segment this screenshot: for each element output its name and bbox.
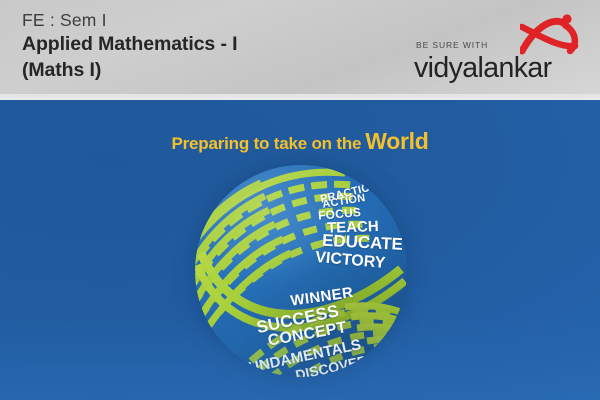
cover-tagline: Preparing to take on theWorld [0,128,600,155]
globe-wordcloud-graphic: COACH PRACTICE ACTION FOCUS TEACH EDUCAT… [195,165,407,377]
logo-tagline: BE SURE WITH [416,40,488,50]
globe-word: VICTORY [314,250,385,272]
course-subtitle: (Maths I) [22,57,238,83]
vidyalankar-swoosh-icon [520,14,582,56]
tagline-emphasis: World [365,128,428,154]
logo-wordmark: vidyalankar [414,52,552,84]
cover-body: Preparing to take on theWorld [0,100,600,400]
cover-page: FE : Sem I Applied Mathematics - I (Math… [0,0,600,400]
brand-logo: BE SURE WITH vidyalankar [412,14,588,90]
page-title: Applied Mathematics - I [22,32,238,57]
globe-words-bottom: WINNER SUCCESS CONCEPT FUNDAMENTALS DISC… [195,271,407,377]
page-header: FE : Sem I Applied Mathematics - I (Math… [0,0,600,100]
course-heading-block: FE : Sem I Applied Mathematics - I (Math… [22,8,238,83]
course-code: FE : Sem I [22,8,238,32]
globe-words-top: COACH PRACTICE ACTION FOCUS TEACH EDUCAT… [195,165,407,271]
tagline-prefix: Preparing to take on the [171,134,361,153]
